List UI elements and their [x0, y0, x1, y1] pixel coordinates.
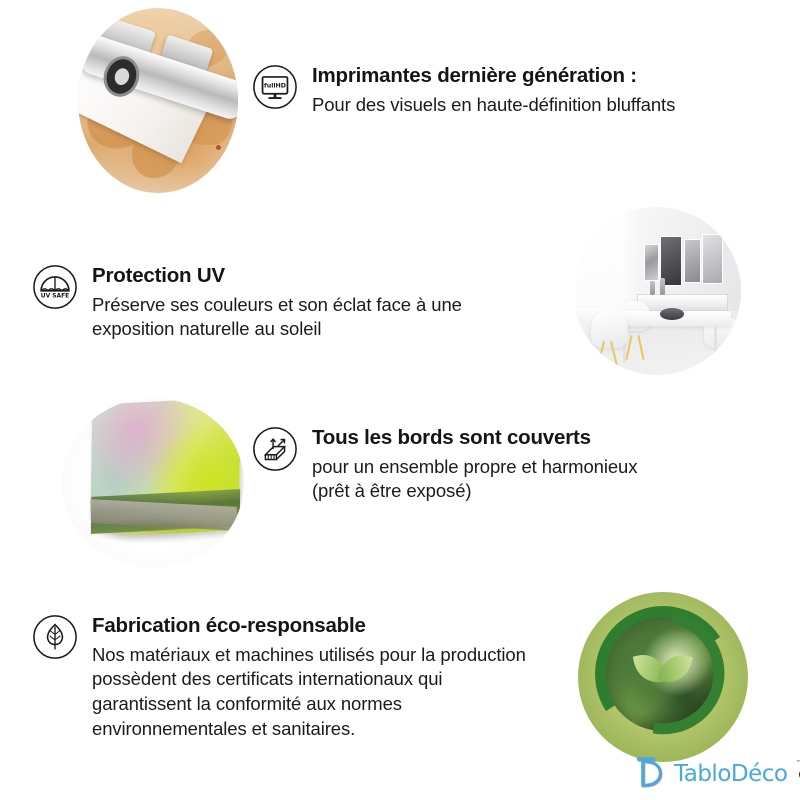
feature-body: Préserve ses couleurs et son éclat face …	[92, 293, 462, 343]
feature-title: Protection UV	[92, 264, 462, 289]
feature-title: Tous les bords sont couverts	[312, 426, 637, 451]
printer-world-map-photo	[78, 8, 238, 193]
brand-name-text: TabloDéco	[674, 761, 787, 787]
feature-body: Pour des visuels en haute-définition blu…	[312, 93, 675, 118]
green-earth-recycling-photo	[578, 592, 748, 762]
feature-body: pour un ensemble propre et harmonieux (p…	[312, 455, 637, 505]
td-monogram-icon	[634, 756, 668, 792]
white-dining-room-photo	[573, 207, 741, 375]
feature-covered-edges: Tous les bords sont couverts pour un ens…	[252, 424, 637, 504]
wrapped-canvas-edges-icon	[252, 426, 298, 472]
svg-text:fullHD: fullHD	[264, 83, 286, 90]
feature-body: Nos matériaux et machines utilisés pour …	[92, 643, 526, 742]
trademark-symbol: ™	[795, 760, 800, 767]
feature-eco-manufacturing: Fabrication éco-responsable Nos matériau…	[32, 612, 526, 742]
fullhd-monitor-icon: fullHD	[252, 64, 298, 110]
leaf-icon	[32, 614, 78, 660]
feature-title: Imprimantes dernière génération :	[312, 64, 675, 89]
svg-text:UV SAFE: UV SAFE	[41, 292, 69, 299]
feature-printers: fullHD Imprimantes dernière génération :…	[252, 62, 675, 117]
brand-logo[interactable]: TabloDéco ™ fr	[634, 756, 800, 792]
canvas-corner-photo	[62, 398, 244, 568]
brand-wordmark: TabloDéco ™	[674, 763, 787, 786]
promo-feature-page: fullHD Imprimantes dernière génération :…	[0, 0, 800, 800]
uv-safe-umbrella-icon: UV SAFE	[32, 264, 78, 310]
feature-title: Fabrication éco-responsable	[92, 614, 526, 639]
feature-uv-protection: UV SAFE Protection UV Préserve ses coule…	[32, 262, 462, 342]
